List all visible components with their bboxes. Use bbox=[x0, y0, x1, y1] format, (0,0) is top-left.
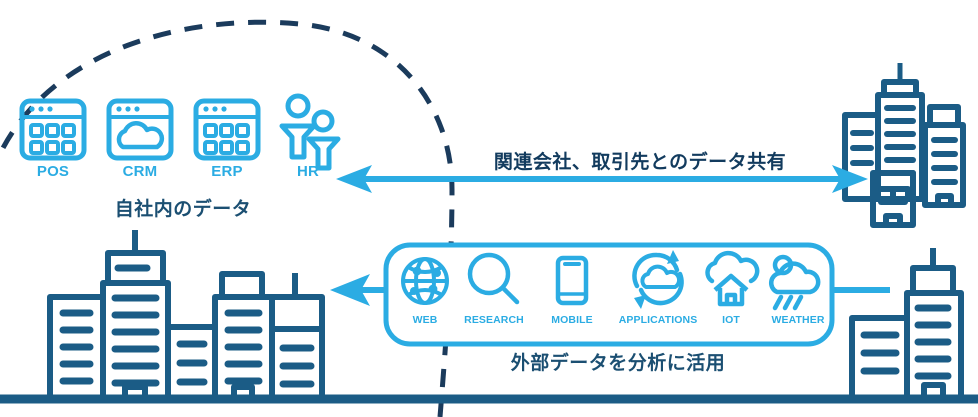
data-sharing-arrow-label: 関連会社、取引先とのデータ共有 bbox=[494, 147, 786, 174]
external-source-label-mobile: MOBILE bbox=[551, 314, 592, 326]
building-bottom-right bbox=[852, 248, 961, 399]
external-source-label-research: RESEARCH bbox=[464, 314, 524, 326]
external-data-box bbox=[386, 245, 832, 344]
external-source-label-applications: APPLICATIONS bbox=[619, 314, 698, 326]
internal-data-title: 自社内のデータ bbox=[115, 194, 252, 221]
external-data-inflow-arrow bbox=[330, 274, 386, 306]
external-source-label-web: WEB bbox=[413, 314, 438, 326]
internal-source-label-erp: ERP bbox=[211, 163, 242, 180]
internal-source-label-pos: POS bbox=[37, 163, 69, 180]
external-data-title: 外部データを分析に活用 bbox=[511, 348, 726, 375]
external-source-label-weather: WEATHER bbox=[772, 314, 825, 326]
partner-buildings-right bbox=[845, 63, 963, 225]
city-skyline-left bbox=[50, 230, 322, 399]
internal-source-label-hr: HR bbox=[297, 163, 319, 180]
pos-window-grid-icon bbox=[22, 101, 84, 158]
erp-window-grid-icon bbox=[196, 101, 258, 158]
internal-source-label-crm: CRM bbox=[123, 163, 158, 180]
external-source-label-iot: IOT bbox=[722, 314, 740, 326]
hr-people-icon bbox=[282, 96, 338, 168]
crm-cloud-window-icon bbox=[109, 101, 171, 158]
diagram-canvas: POS CRM ERP HR 自社内のデータ 関連会社、取引先とのデータ共有 W… bbox=[0, 0, 978, 417]
